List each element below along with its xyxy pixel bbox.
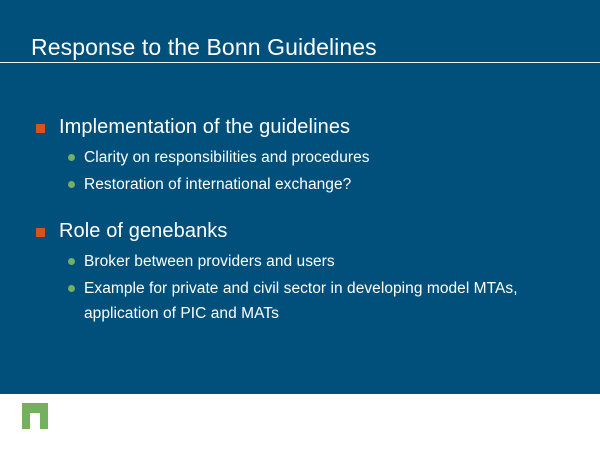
level2-bullet-label: Clarity on responsibilities and procedur… xyxy=(84,149,370,166)
level1-bullet-item: Implementation of the guidelines xyxy=(0,112,600,142)
level2-bullet-list: Clarity on responsibilities and procedur… xyxy=(0,145,600,197)
slide-footer xyxy=(0,394,600,450)
level2-bullet-list: Broker between providers and users Examp… xyxy=(0,249,600,326)
level2-bullet-item: Clarity on responsibilities and procedur… xyxy=(0,145,600,170)
level1-bullet-label: Role of genebanks xyxy=(59,220,228,242)
level1-bullet-label: Implementation of the guidelines xyxy=(59,116,350,138)
level2-bullet-label: Example for private and civil sector in … xyxy=(84,280,518,322)
square-bullet-icon xyxy=(36,124,45,133)
circle-bullet-icon xyxy=(68,258,75,265)
level1-bullet-item: Role of genebanks xyxy=(0,216,600,246)
level2-bullet-item: Example for private and civil sector in … xyxy=(0,276,600,326)
level2-bullet-label: Restoration of international exchange? xyxy=(84,176,351,193)
slide-content: Implementation of the guidelines Clarity… xyxy=(0,112,600,326)
bullet-group: Implementation of the guidelines Clarity… xyxy=(0,112,600,197)
logo-notch xyxy=(30,413,40,429)
square-bullet-icon xyxy=(36,228,45,237)
title-divider xyxy=(0,62,600,63)
level2-bullet-item: Restoration of international exchange? xyxy=(0,172,600,197)
circle-bullet-icon xyxy=(68,285,75,292)
page-title: Response to the Bonn Guidelines xyxy=(31,33,377,61)
presentation-slide: Response to the Bonn Guidelines Implemen… xyxy=(0,0,600,450)
circle-bullet-icon xyxy=(68,181,75,188)
level2-bullet-label: Broker between providers and users xyxy=(84,253,335,270)
circle-bullet-icon xyxy=(68,154,75,161)
bullet-group: Role of genebanks Broker between provide… xyxy=(0,216,600,326)
level2-bullet-item: Broker between providers and users xyxy=(0,249,600,274)
organization-logo-icon xyxy=(22,403,48,429)
